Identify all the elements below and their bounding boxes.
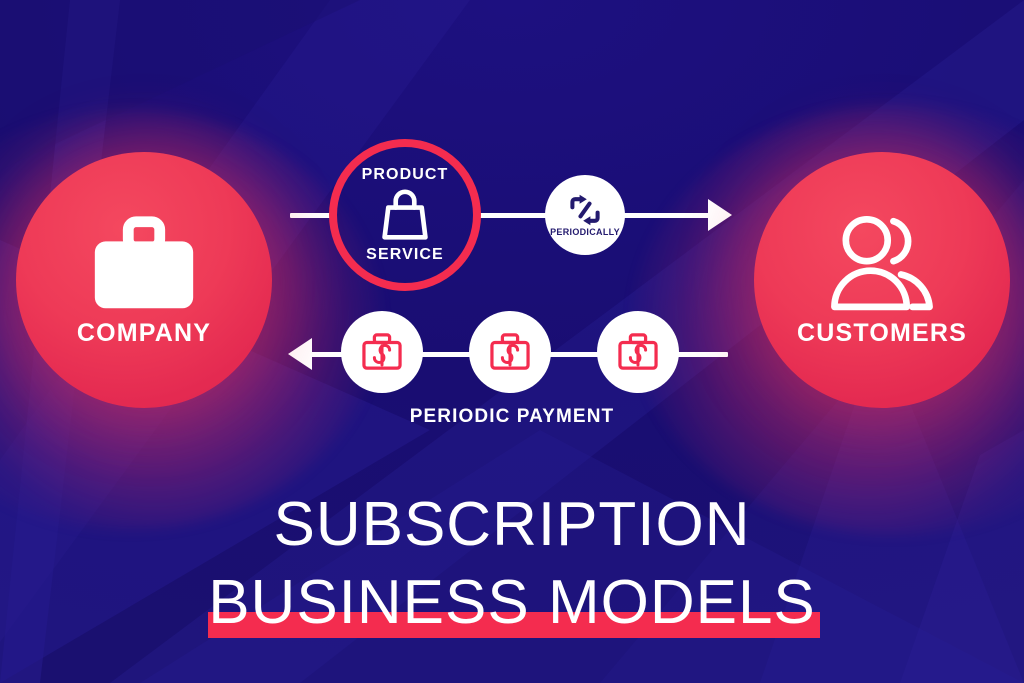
page-title: SUBSCRIPTION BUSINESS MODELS	[0, 486, 1024, 642]
periodic-payment-text: PERIODIC PAYMENT	[410, 406, 614, 428]
two-users-icon	[823, 215, 941, 315]
arrow-right-icon	[708, 199, 732, 231]
money-briefcase-dollar-icon	[361, 333, 403, 371]
service-label: SERVICE	[366, 247, 444, 263]
node-customers-label: CUSTOMERS	[797, 321, 967, 346]
flow-line-product-to-periodically	[476, 213, 550, 218]
money-briefcase-dollar-icon	[617, 333, 659, 371]
node-company-label: COMPANY	[77, 321, 211, 346]
periodic-payment-label: PERIODIC PAYMENT	[0, 406, 1024, 428]
payment-circle-3[interactable]	[597, 311, 679, 393]
payment-circle-1[interactable]	[341, 311, 423, 393]
flow-line-company-to-product	[290, 213, 334, 218]
flow-line-periodically-to-customers	[620, 213, 712, 218]
title-line-1: SUBSCRIPTION	[0, 486, 1024, 564]
money-briefcase-dollar-icon	[489, 333, 531, 371]
payment-circle-2[interactable]	[469, 311, 551, 393]
badge-periodically[interactable]: PERIODICALLY	[545, 175, 625, 255]
title-line-2: BUSINESS MODELS	[0, 564, 1024, 642]
product-label: PRODUCT	[362, 167, 449, 183]
briefcase-icon	[85, 215, 203, 315]
flow-line-payment-3-to-customers	[676, 352, 728, 357]
shopping-bag-icon	[379, 187, 431, 243]
node-product-service[interactable]: PRODUCT SERVICE	[329, 139, 481, 291]
arrow-left-icon	[288, 338, 312, 370]
periodically-label: PERIODICALLY	[550, 228, 620, 237]
infographic-canvas: COMPANY CUSTOMERS PRODUCT SERVICE	[0, 0, 1024, 683]
node-company[interactable]: COMPANY	[16, 152, 272, 408]
refresh-cycle-icon	[567, 194, 603, 226]
node-customers[interactable]: CUSTOMERS	[754, 152, 1010, 408]
